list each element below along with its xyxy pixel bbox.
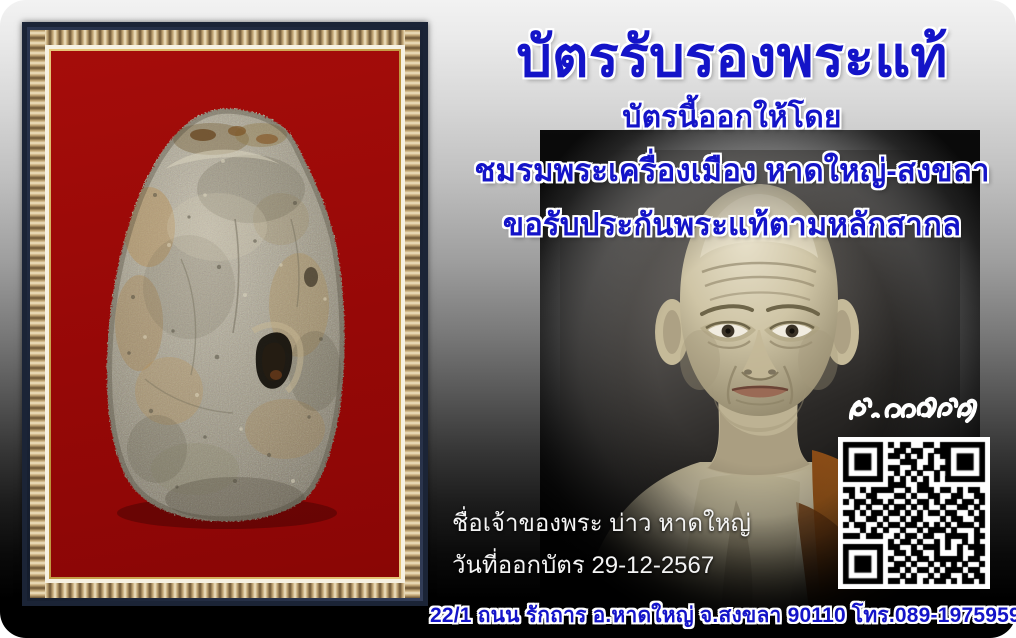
issue-date-line: วันที่ออกบัตร 29-12-2567 bbox=[452, 545, 714, 584]
amulet-certificate-card: บัตรรับรองพระแท้ บัตรนี้ออกให้โดย ชมรมพร… bbox=[0, 0, 1016, 638]
amulet-photo bbox=[85, 99, 365, 529]
frame-cream-band bbox=[45, 45, 405, 583]
owner-name-line: ชื่อเจ้าของพระ บ่าว หาดใหญ่ bbox=[452, 503, 751, 542]
amulet-picture-frame bbox=[22, 22, 428, 606]
frame-gold-line bbox=[49, 49, 401, 579]
red-mat-background bbox=[51, 51, 399, 577]
qr-code-icon[interactable] bbox=[838, 437, 990, 589]
address-line: 22/1 ถนน รักถาร อ.หาดใหญ่ จ.สงขลา 90110 … bbox=[0, 602, 1016, 630]
frame-beaded-gold-band bbox=[30, 30, 420, 598]
signature-watermark-icon bbox=[843, 392, 983, 428]
frame-navy-band bbox=[27, 27, 423, 601]
